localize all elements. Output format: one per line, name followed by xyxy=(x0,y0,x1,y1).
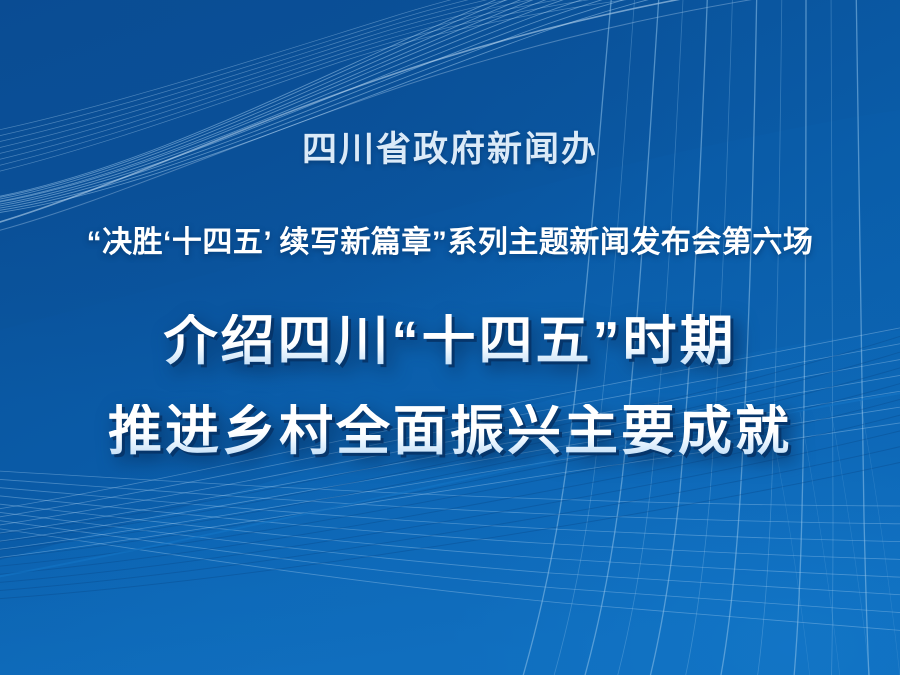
organization-name: 四川省政府新闻办 xyxy=(0,128,900,172)
news-conference-banner: 四川省政府新闻办 “决胜‘十四五’ 续写新篇章”系列主题新闻发布会第六场 介绍四… xyxy=(0,0,900,675)
headline-line-2: 推进乡村全面振兴主要成就 xyxy=(0,404,900,458)
headline-line-1: 介绍四川“十四五”时期 xyxy=(0,314,900,368)
series-subtitle: “决胜‘十四五’ 续写新篇章”系列主题新闻发布会第六场 xyxy=(0,224,900,262)
sheen-bottom-shape xyxy=(0,330,900,675)
